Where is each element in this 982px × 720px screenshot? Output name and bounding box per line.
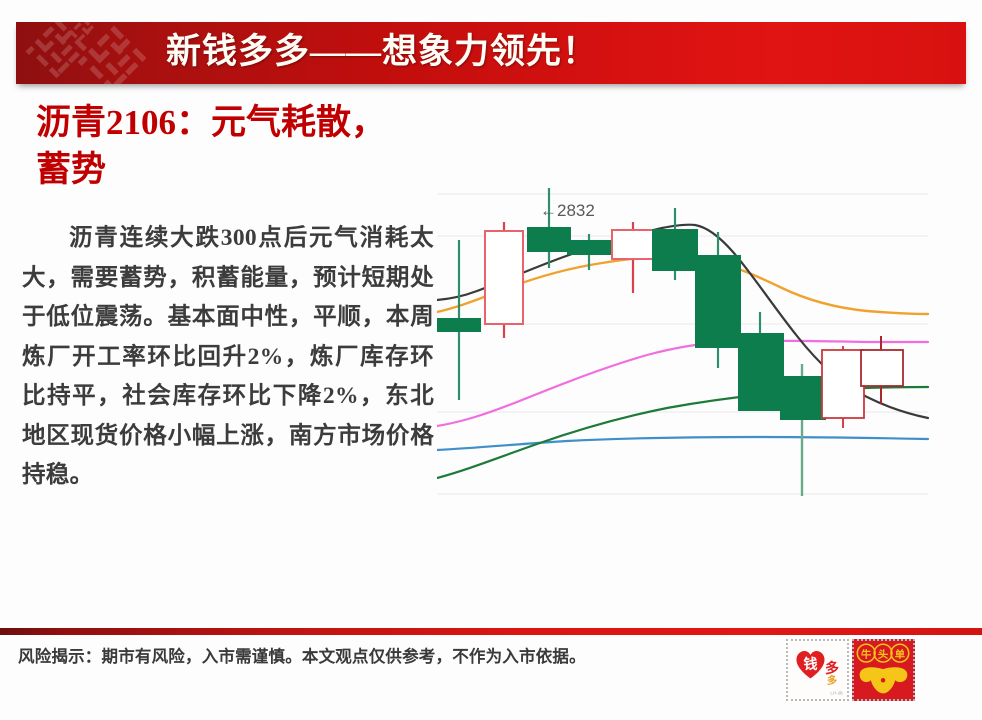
slide-canvas: 新钱多多——想象力领先！ 沥青2106：元气耗散， 蓄势 沥青连续大跌300点后… [0, 0, 982, 720]
svg-text:LH-db: LH-db [830, 690, 843, 695]
page-title-line2: 蓄势 [36, 146, 466, 193]
page-title-line1: 沥青2106：元气耗散， [36, 99, 466, 146]
candle-10 [822, 346, 864, 428]
page-title: 沥青2106：元气耗散， 蓄势 [36, 99, 466, 193]
body-paragraph: 沥青连续大跌300点后元气消耗太大，需要蓄势，积蓄能量，预计短期处于低位震荡。基… [22, 219, 434, 496]
footer-disclaimer: 风险揭示：期市有风险，入市需谨慎。本文观点仅供参考，不作为入市依据。 [18, 643, 586, 667]
candle-4 [567, 234, 611, 270]
qian-duo-duo-logo: 钱 多 多 LH-db [786, 639, 849, 701]
candle-8 [738, 312, 784, 411]
candle-1 [437, 240, 481, 400]
candle-6 [652, 208, 698, 280]
niu-tou-dan-logo: 牛 头 单 [852, 639, 915, 701]
svg-text:单: 单 [895, 648, 905, 661]
footer-divider [0, 628, 982, 635]
candle-11 [861, 336, 903, 404]
footer-logos: 钱 多 多 LH-db 牛 头 单 [786, 639, 916, 701]
header-banner: 新钱多多——想象力领先！ [16, 22, 966, 84]
svg-text:头: 头 [878, 648, 888, 661]
candlestick-chart-svg: ←2832 [437, 178, 932, 508]
candle-2 [485, 222, 523, 338]
niu-tou-dan-logo-icon: 牛 头 单 [854, 641, 913, 699]
chinese-knot-lattice-pattern-icon [16, 22, 186, 84]
annotation-label-2832: ←2832 [540, 201, 595, 220]
qian-duo-duo-logo-icon: 钱 多 多 LH-db [788, 641, 847, 699]
svg-text:多: 多 [827, 674, 837, 687]
chart-annotation-2832: ←2832 [540, 201, 595, 220]
svg-text:钱: 钱 [803, 656, 817, 673]
svg-text:牛: 牛 [861, 648, 871, 661]
candle-9 [780, 364, 826, 496]
candle-5 [612, 222, 654, 293]
candlestick-chart: ←2832 [437, 178, 932, 508]
svg-text:多: 多 [825, 660, 839, 677]
ma-line-blue [437, 437, 928, 450]
banner-title: 新钱多多——想象力领先！ [166, 22, 598, 84]
